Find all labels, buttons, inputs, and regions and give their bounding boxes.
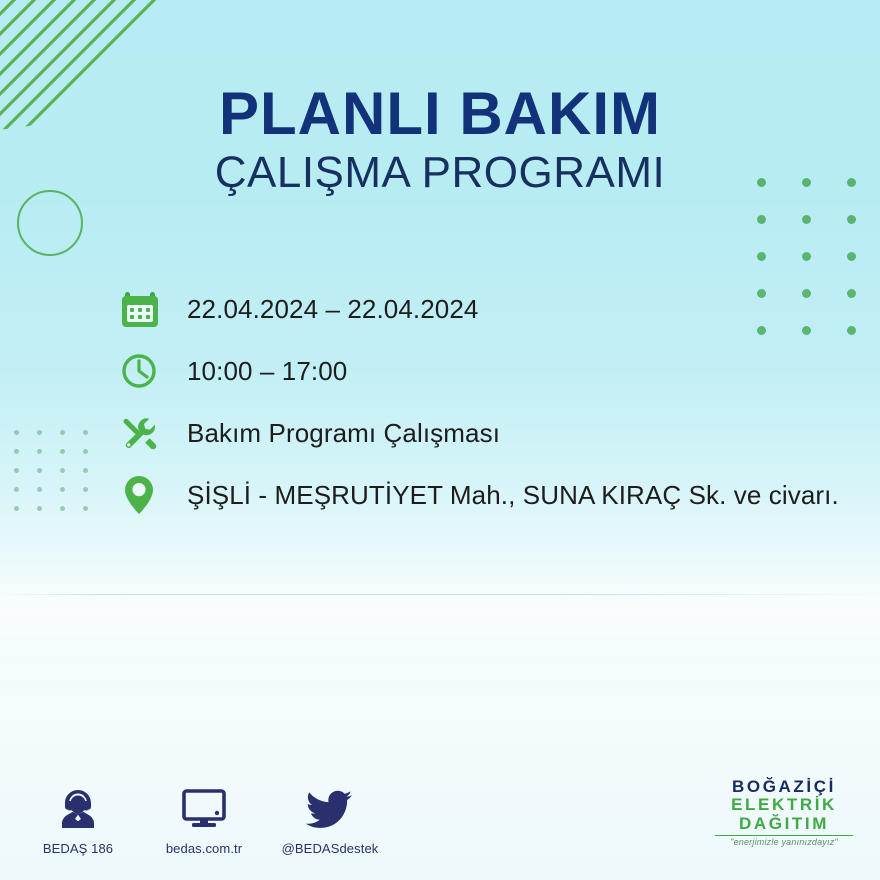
dot — [37, 468, 42, 473]
dot — [37, 449, 42, 454]
background-divider-line — [0, 594, 880, 595]
calendar-icon — [118, 283, 170, 335]
background-glow-band — [0, 560, 880, 680]
dot-grid-decoration-left — [14, 430, 106, 525]
monitor-icon — [180, 782, 228, 832]
dot — [14, 506, 19, 511]
planned-maintenance-poster: PLANLI BAKIM ÇALIŞMA PROGRAMI — [0, 0, 880, 880]
dot — [37, 506, 42, 511]
work-type-text: Bakım Programı Çalışması — [187, 418, 500, 449]
twitter-bird-icon — [305, 782, 355, 832]
dot — [847, 215, 856, 224]
poster-header: PLANLI BAKIM ÇALIŞMA PROGRAMI — [0, 84, 880, 196]
list-item-location: ŞİŞLİ - MEŞRUTİYET Mah., SUNA KIRAÇ Sk. … — [118, 464, 858, 526]
contact-twitter-label: @BEDASdestek — [282, 841, 379, 856]
dot — [60, 468, 65, 473]
list-item-date: 22.04.2024 – 22.04.2024 — [118, 278, 858, 340]
footer-contact-links: BEDAŞ 186 bedas.com.tr @BEDASdestek — [34, 782, 374, 856]
dot — [757, 252, 766, 261]
tools-icon — [118, 407, 170, 459]
time-range-text: 10:00 – 17:00 — [187, 356, 347, 387]
dot — [60, 487, 65, 492]
dot — [847, 252, 856, 261]
dot — [14, 468, 19, 473]
dot — [83, 430, 88, 435]
dot — [14, 449, 19, 454]
dot — [14, 487, 19, 492]
dot — [60, 430, 65, 435]
dot — [37, 487, 42, 492]
circle-outline-decoration — [17, 190, 83, 256]
dot — [83, 506, 88, 511]
bogazici-elektrik-dagitim-logo: BOĞAZİÇİ ELEKTRİK DAĞITIM "enerjimizle y… — [710, 778, 858, 848]
contact-twitter[interactable]: @BEDASdestek — [286, 782, 374, 856]
logo-line-1: BOĞAZİÇİ — [710, 778, 858, 796]
dot — [83, 468, 88, 473]
maintenance-details-list: 22.04.2024 – 22.04.2024 10:00 – 17:00 — [118, 278, 858, 526]
contact-website[interactable]: bedas.com.tr — [160, 782, 248, 856]
dot — [83, 487, 88, 492]
dot — [37, 430, 42, 435]
dot — [802, 215, 811, 224]
location-text: ŞİŞLİ - MEŞRUTİYET Mah., SUNA KIRAÇ Sk. … — [187, 480, 839, 511]
contact-website-label: bedas.com.tr — [166, 841, 242, 856]
logo-line-2: ELEKTRİK — [710, 796, 858, 814]
logo-divider — [715, 835, 853, 836]
date-range-text: 22.04.2024 – 22.04.2024 — [187, 294, 478, 325]
contact-phone[interactable]: BEDAŞ 186 — [34, 782, 122, 856]
dot — [14, 430, 19, 435]
dot — [802, 252, 811, 261]
list-item-time: 10:00 – 17:00 — [118, 340, 858, 402]
page-subtitle: ÇALIŞMA PROGRAMI — [0, 150, 880, 196]
dot — [60, 506, 65, 511]
dot — [60, 449, 65, 454]
clock-icon — [118, 345, 170, 397]
location-pin-icon — [118, 469, 170, 521]
contact-phone-label: BEDAŞ 186 — [43, 841, 113, 856]
logo-tagline: "enerjimizle yanınızdayız" — [710, 838, 858, 848]
dot — [83, 449, 88, 454]
list-item-work-type: Bakım Programı Çalışması — [118, 402, 858, 464]
page-title: PLANLI BAKIM — [0, 84, 880, 144]
logo-line-3: DAĞITIM — [710, 815, 858, 833]
dot — [757, 215, 766, 224]
call-center-agent-icon — [56, 782, 100, 832]
